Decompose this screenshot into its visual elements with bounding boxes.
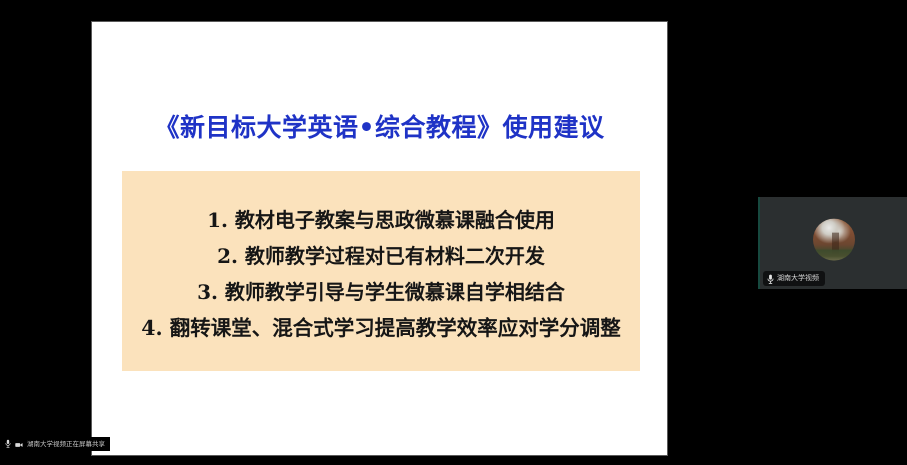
share-status-bar[interactable]: 湖南大学视频正在屏幕共享 <box>0 437 110 451</box>
share-status-label: 湖南大学视频正在屏幕共享 <box>27 441 105 448</box>
screen-share-stage: 《新目标大学英语•综合教程》使用建议 1. 教材电子教案与思政微慕课融合使用 2… <box>0 0 907 465</box>
slide-title: 《新目标大学英语•综合教程》使用建议 <box>92 108 667 144</box>
shared-slide[interactable]: 《新目标大学英语•综合教程》使用建议 1. 教材电子教案与思政微慕课融合使用 2… <box>92 22 667 455</box>
microphone-icon[interactable] <box>5 435 11 453</box>
slide-bullet-2: 2. 教师教学过程对已有材料二次开发 <box>217 238 545 274</box>
slide-bullet-1: 1. 教材电子教案与思政微慕课融合使用 <box>207 196 555 238</box>
participant-name-label: 湖南大学视频 <box>777 275 819 282</box>
camera-icon[interactable] <box>15 435 23 453</box>
slide-content-box: 1. 教材电子教案与思政微慕课融合使用 2. 教师教学过程对已有材料二次开发 3… <box>122 171 640 371</box>
microphone-icon <box>767 274 774 284</box>
slide-bullet-3: 3. 教师教学引导与学生微慕课自学相结合 <box>197 274 565 310</box>
participant-avatar <box>813 219 855 261</box>
participant-name-badge: 湖南大学视频 <box>763 271 825 286</box>
slide-bullet-4: 4. 翻转课堂、混合式学习提高教学效率应对学分调整 <box>141 310 621 347</box>
participant-video-tile[interactable]: 湖南大学视频 <box>758 197 907 289</box>
